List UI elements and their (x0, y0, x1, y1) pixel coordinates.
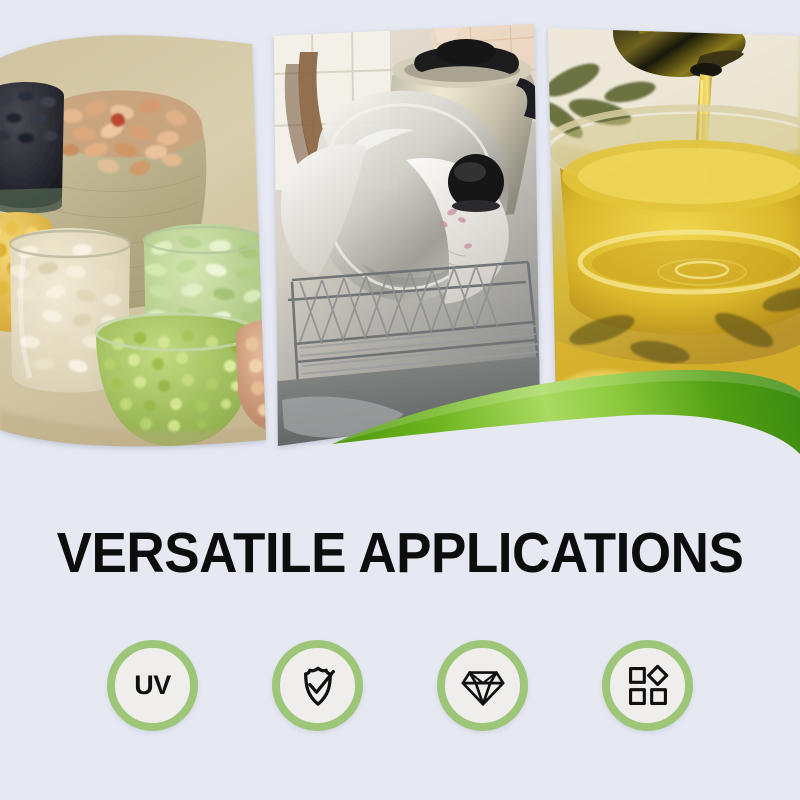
versatile-applications-banner: VERSATILE APPLICATIONS UV (0, 0, 800, 800)
shield-check-icon (295, 663, 341, 709)
uv-text-icon: UV (134, 672, 171, 699)
page-title: VERSATILE APPLICATIONS (28, 522, 772, 584)
badge-protection[interactable] (272, 640, 363, 731)
collage-panel-legumes (0, 20, 292, 470)
headline-container: VERSATILE APPLICATIONS (0, 522, 800, 584)
grid-shapes-icon (626, 664, 670, 708)
feature-badge-row: UV (0, 640, 800, 731)
badge-premium-quality[interactable] (437, 640, 528, 731)
badge-uv-resistance[interactable]: UV (107, 640, 198, 731)
photo-collage (0, 0, 800, 470)
badge-multi-purpose[interactable] (602, 640, 693, 731)
diamond-gem-icon (460, 663, 506, 709)
